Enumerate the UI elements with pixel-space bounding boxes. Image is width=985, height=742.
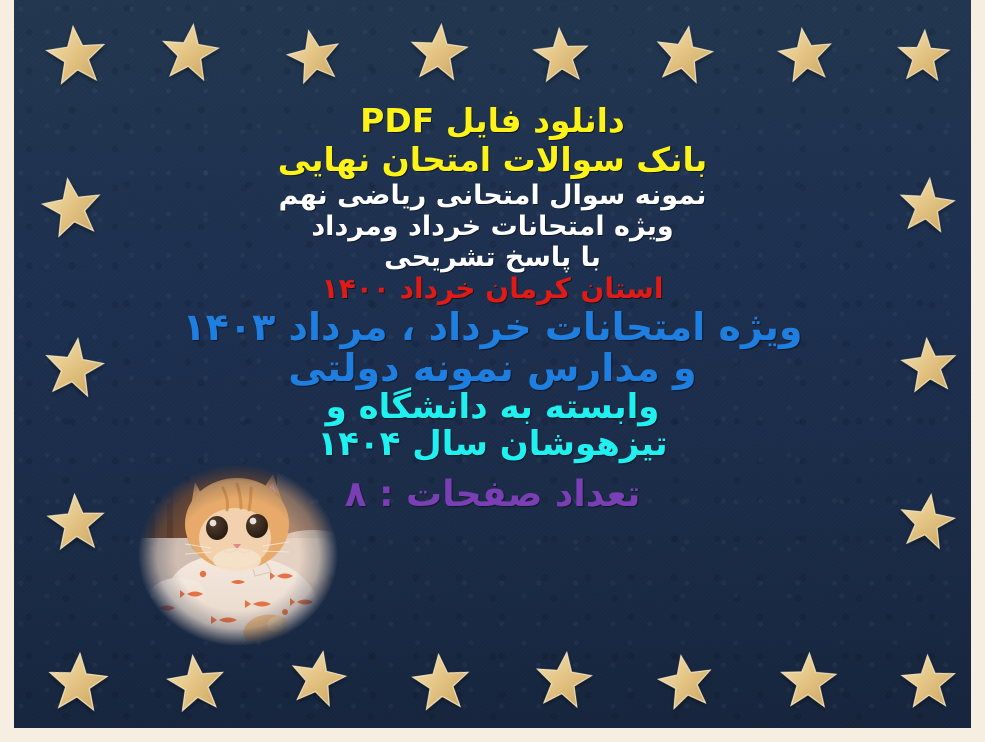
star-icon bbox=[649, 19, 719, 89]
star-icon bbox=[778, 650, 839, 711]
star-icon bbox=[42, 21, 110, 89]
line-exams-1403: ویژه امتحانات خرداد ، مرداد ۱۴۰۳ bbox=[14, 308, 971, 347]
star-icon bbox=[157, 19, 224, 86]
star-icon bbox=[530, 24, 592, 86]
star-icon bbox=[531, 647, 597, 713]
page-title: دانلود فایل PDF bbox=[14, 104, 971, 138]
star-icon bbox=[652, 648, 718, 714]
line-gifted-1404: تیزهوشان سال ۱۴۰۴ bbox=[14, 427, 971, 462]
line-page-count: تعداد صفحات : ۸ bbox=[14, 476, 971, 513]
line-university-linked: وابسته به دانشگاه و bbox=[14, 390, 971, 425]
line-special-exams: ویژه امتحانات خرداد ومرداد bbox=[14, 213, 971, 241]
poster-canvas: دانلود فایل PDF بانک سوالات امتحان نهایی… bbox=[0, 0, 985, 742]
line-province-kerman: استان کرمان خرداد ۱۴۰۰ bbox=[14, 275, 971, 304]
star-icon bbox=[406, 19, 471, 84]
subtitle-question-bank: بانک سوالات امتحان نهایی bbox=[14, 143, 971, 177]
star-icon bbox=[895, 27, 953, 85]
line-detailed-answers: با پاسخ تشریحی bbox=[14, 244, 971, 272]
star-icon bbox=[163, 650, 230, 717]
star-icon bbox=[408, 649, 473, 714]
star-icon bbox=[899, 652, 958, 711]
line-sample-schools: و مدارس نمونه دولتی bbox=[14, 349, 971, 388]
navy-background-panel: دانلود فایل PDF بانک سوالات امتحان نهایی… bbox=[14, 0, 971, 728]
star-icon bbox=[281, 23, 347, 89]
star-icon bbox=[773, 22, 837, 86]
star-icon bbox=[45, 649, 111, 715]
line-sample-question: نمونه سوال امتحانی ریاضی نهم bbox=[14, 182, 971, 210]
poster-text-block: دانلود فایل PDF بانک سوالات امتحان نهایی… bbox=[14, 104, 971, 514]
